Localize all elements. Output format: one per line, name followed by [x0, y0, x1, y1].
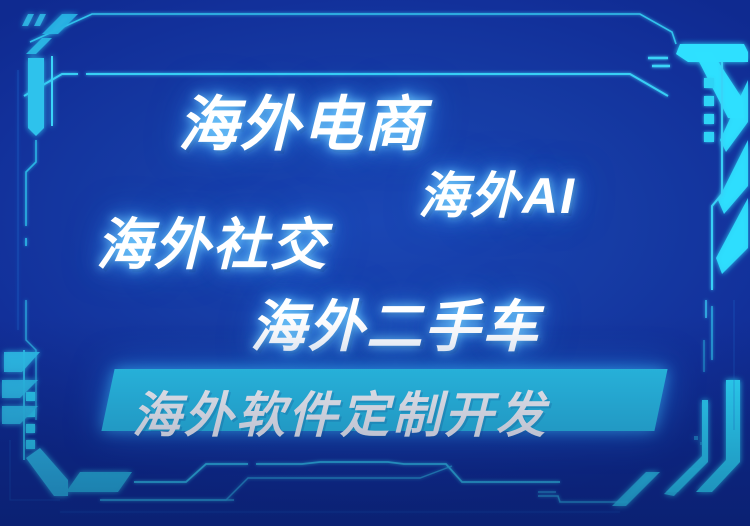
poster-canvas: 海外电商 海外AI 海外社交 海外二手车 海外软件定制开发 — [0, 0, 750, 526]
corner-marker-bottom-left — [2, 350, 68, 496]
headline-overseas-social: 海外社交 — [96, 200, 328, 281]
headline-overseas-ai: 海外AI — [418, 156, 576, 228]
headline-overseas-ecommerce: 海外电商 — [178, 76, 426, 163]
dot-column-right — [704, 78, 714, 142]
bottom-left-slash — [66, 472, 132, 492]
bottom-circuit-traces — [60, 462, 628, 512]
custom-development-banner-label: 海外软件定制开发 — [132, 376, 548, 447]
dot-column-left — [26, 392, 35, 449]
right-circuit-trace — [704, 62, 722, 372]
headline-overseas-used-car: 海外二手车 — [250, 282, 540, 363]
